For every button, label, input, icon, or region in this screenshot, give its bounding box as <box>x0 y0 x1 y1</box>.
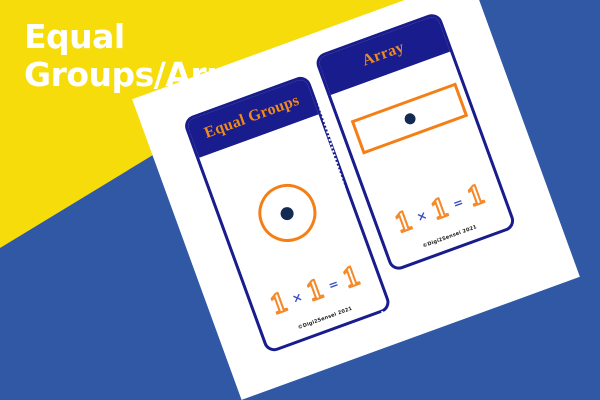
counter-dot <box>279 205 296 222</box>
equation-equal-groups: 1 × 1 = 1 <box>251 255 380 326</box>
equation-result: 1 <box>340 261 364 293</box>
poster-canvas: Equal Groups/Array Equal Groups 1 × 1 = … <box>0 0 600 400</box>
equation-operand-right: 1 <box>303 275 327 307</box>
equation-array: 1 × 1 = 1 <box>375 174 504 245</box>
multiply-icon: × <box>415 208 429 223</box>
multiply-icon: × <box>290 290 304 305</box>
equation-operand-left: 1 <box>267 288 291 320</box>
equals-icon: = <box>326 277 340 292</box>
card-title-array: Array <box>360 39 407 71</box>
equal-groups-circle-icon <box>250 176 324 250</box>
equals-icon: = <box>451 195 465 210</box>
equation-operand-right: 1 <box>428 193 452 225</box>
equation-operand-left: 1 <box>392 206 416 238</box>
array-rectangle-icon <box>351 82 469 154</box>
equation-result: 1 <box>464 180 488 212</box>
counter-dot <box>402 111 416 125</box>
page-title: Equal Groups/Array <box>24 18 264 95</box>
